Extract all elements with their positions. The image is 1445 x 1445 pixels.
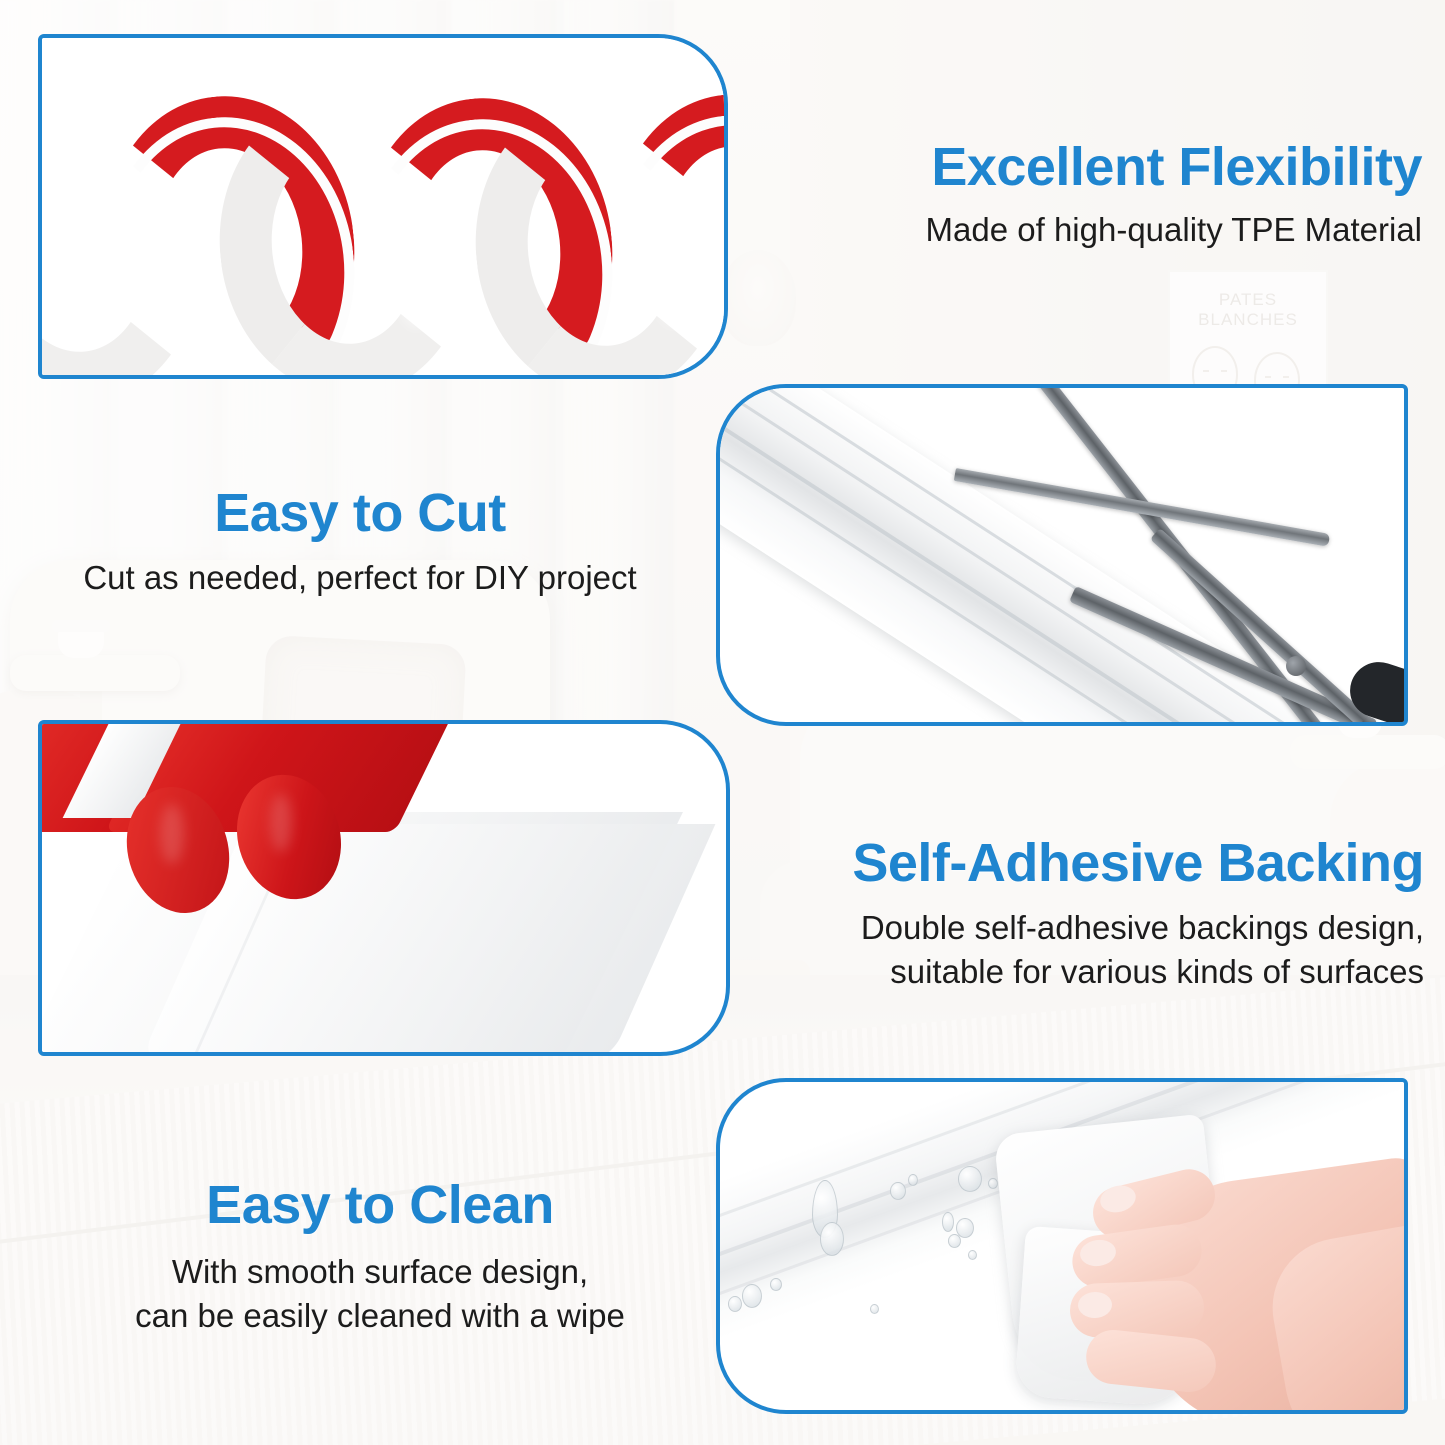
- feature-text-flexibility: Excellent Flexibility Made of high-quali…: [752, 140, 1422, 251]
- headline-easy-to-cut: Easy to Cut: [30, 486, 690, 541]
- subline-self-adhesive-line2: suitable for various kinds of surfaces: [752, 951, 1424, 993]
- feature-image-easy-to-clean: [716, 1078, 1408, 1414]
- headline-flexibility: Excellent Flexibility: [752, 140, 1422, 195]
- coiled-strip-illustration: [42, 38, 724, 375]
- adhesive-backing-illustration: [42, 724, 726, 1052]
- feature-image-self-adhesive: [38, 720, 730, 1056]
- headline-easy-to-clean: Easy to Clean: [60, 1178, 700, 1233]
- feature-image-flexibility: [38, 34, 728, 379]
- wipe-cleaning-illustration: [720, 1082, 1404, 1410]
- subline-flexibility: Made of high-quality TPE Material: [752, 209, 1422, 251]
- scissors-cutting-illustration: [720, 388, 1404, 722]
- subline-easy-to-cut: Cut as needed, perfect for DIY project: [30, 557, 690, 599]
- subline-self-adhesive-line1: Double self-adhesive backings design,: [752, 907, 1424, 949]
- subline-easy-to-clean-line2: can be easily cleaned with a wipe: [60, 1295, 700, 1337]
- feature-image-easy-to-cut: [716, 384, 1408, 726]
- feature-text-easy-to-cut: Easy to Cut Cut as needed, perfect for D…: [30, 486, 690, 599]
- feature-text-self-adhesive: Self-Adhesive Backing Double self-adhesi…: [752, 836, 1424, 994]
- headline-self-adhesive: Self-Adhesive Backing: [752, 836, 1424, 891]
- feature-text-easy-to-clean: Easy to Clean With smooth surface design…: [60, 1178, 700, 1338]
- subline-easy-to-clean-line1: With smooth surface design,: [60, 1251, 700, 1293]
